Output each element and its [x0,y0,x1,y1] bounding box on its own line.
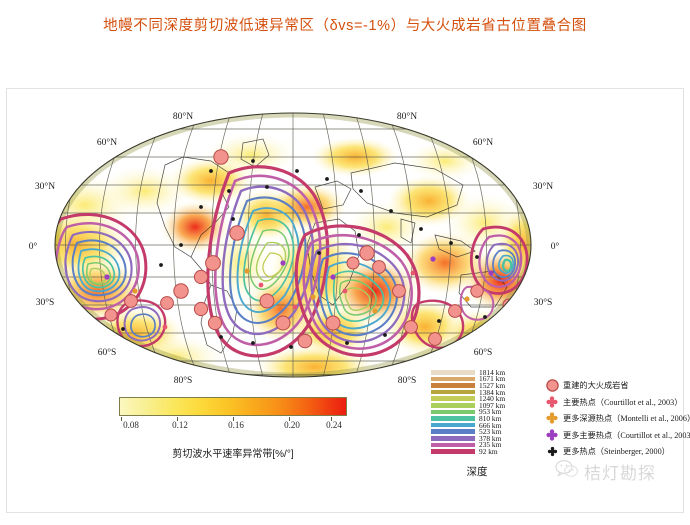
svg-text:30°N: 30°N [533,181,553,192]
legend-item-lip: 重建的大火成岩省 [541,377,690,394]
map-svg: 80°N 80°N 60°N 60°N 30°N 30°N 0° 0° 30°S… [15,95,615,395]
depth-swatch [431,436,475,441]
depth-swatch [431,377,475,382]
figure-card: 80°N 80°N 60°N 60°N 30°N 30°N 0° 0° 30°S… [6,88,684,513]
depth-swatch [431,396,475,401]
colorbar-tick-2: 0.16 [228,420,244,430]
depth-swatch [431,403,475,408]
screenshot-root: 地幔不同深度剪切波低速异常区（δvs=-1%）与大火成岩省古位置叠合图 [0,0,690,525]
svg-text:80°N: 80°N [173,111,193,122]
depth-swatch [431,423,475,428]
depth-scale-title: 深度 [431,464,523,479]
watermark-text: 桔灯勘探 [584,459,656,484]
purple-flower-icon [541,429,563,441]
svg-text:60°N: 60°N [97,137,117,148]
legend-label-lip: 重建的大火成岩省 [563,379,629,391]
colorbar-tick-0: 0.08 [123,420,139,430]
wechat-icon [555,459,579,484]
svg-text:80°N: 80°N [397,111,417,122]
colorbar-gradient [119,397,347,416]
svg-text:60°S: 60°S [98,347,117,358]
colorbar-tick-3: 0.20 [284,420,300,430]
svg-text:30°S: 30°S [534,297,553,308]
colorbar-axis-title: 剪切波水平速率异常带[%/°] [119,445,347,460]
lip-circle-icon [541,378,563,393]
page-title: 地幔不同深度剪切波低速异常区（δvs=-1%）与大火成岩省古位置叠合图 [0,14,690,35]
depth-scale-legend: 1814 km 1671 km 1527 km 1384 km 1240 km … [431,369,531,479]
depth-swatch [431,383,475,388]
legend-item-major-hotspot: 主要热点（Courtillot et al., 2003） [541,394,690,411]
legend-label-more-hotspot: 更多热点（Steinberger, 2000） [563,445,670,457]
legend-item-deep-hotspot: 更多深源热点（Montelli et al., 2006） [541,410,690,427]
svg-text:0°: 0° [29,241,38,252]
legend-label-deep-hotspot: 更多深源热点（Montelli et al., 2006） [563,412,690,424]
depth-swatch [431,390,475,395]
colorbar-tick-4: 0.24 [326,420,342,430]
svg-text:0°: 0° [551,241,560,252]
anomaly-colorbar: 0.08 0.12 0.16 0.20 0.24 剪切波水平速率异常带[%/°] [119,397,364,460]
svg-text:60°S: 60°S [474,347,493,358]
depth-swatch [431,429,475,434]
depth-swatch [431,416,475,421]
depth-swatch [431,443,475,448]
svg-text:80°S: 80°S [174,375,193,386]
colorbar-tick-1: 0.12 [172,420,188,430]
depth-swatch [431,449,475,454]
legend-label-major-hotspot: 主要热点（Courtillot et al., 2003） [563,396,682,408]
global-tomography-map: 80°N 80°N 60°N 60°N 30°N 30°N 0° 0° 30°S… [15,95,615,395]
depth-swatch [431,410,475,415]
svg-text:80°S: 80°S [398,375,417,386]
svg-text:30°S: 30°S [36,297,55,308]
orange-flower-icon [541,412,563,424]
page-title-text: 地幔不同深度剪切波低速异常区（δvs=-1%）与大火成岩省古位置叠合图 [103,18,587,34]
pink-flower-icon [541,396,563,408]
depth-swatch [431,370,475,375]
black-star-icon [541,446,563,457]
depth-row: 92 km [431,448,531,455]
legend-item-more-major-hotspot: 更多主要热点（Courtillot et al., 2003） [541,427,690,444]
symbol-legend: 重建的大火成岩省 主要热点（Courtillot et al., 2003） [541,377,690,460]
watermark: 桔灯勘探 [555,459,656,484]
svg-text:30°N: 30°N [35,181,55,192]
colorbar-ticks: 0.08 0.12 0.16 0.20 0.24 [119,417,347,431]
legend-item-more-hotspot: 更多热点（Steinberger, 2000） [541,443,690,460]
depth-label: 92 km [479,448,498,455]
legend-label-more-major-hotspot: 更多主要热点（Courtillot et al., 2003） [563,429,690,441]
svg-text:60°N: 60°N [473,137,493,148]
